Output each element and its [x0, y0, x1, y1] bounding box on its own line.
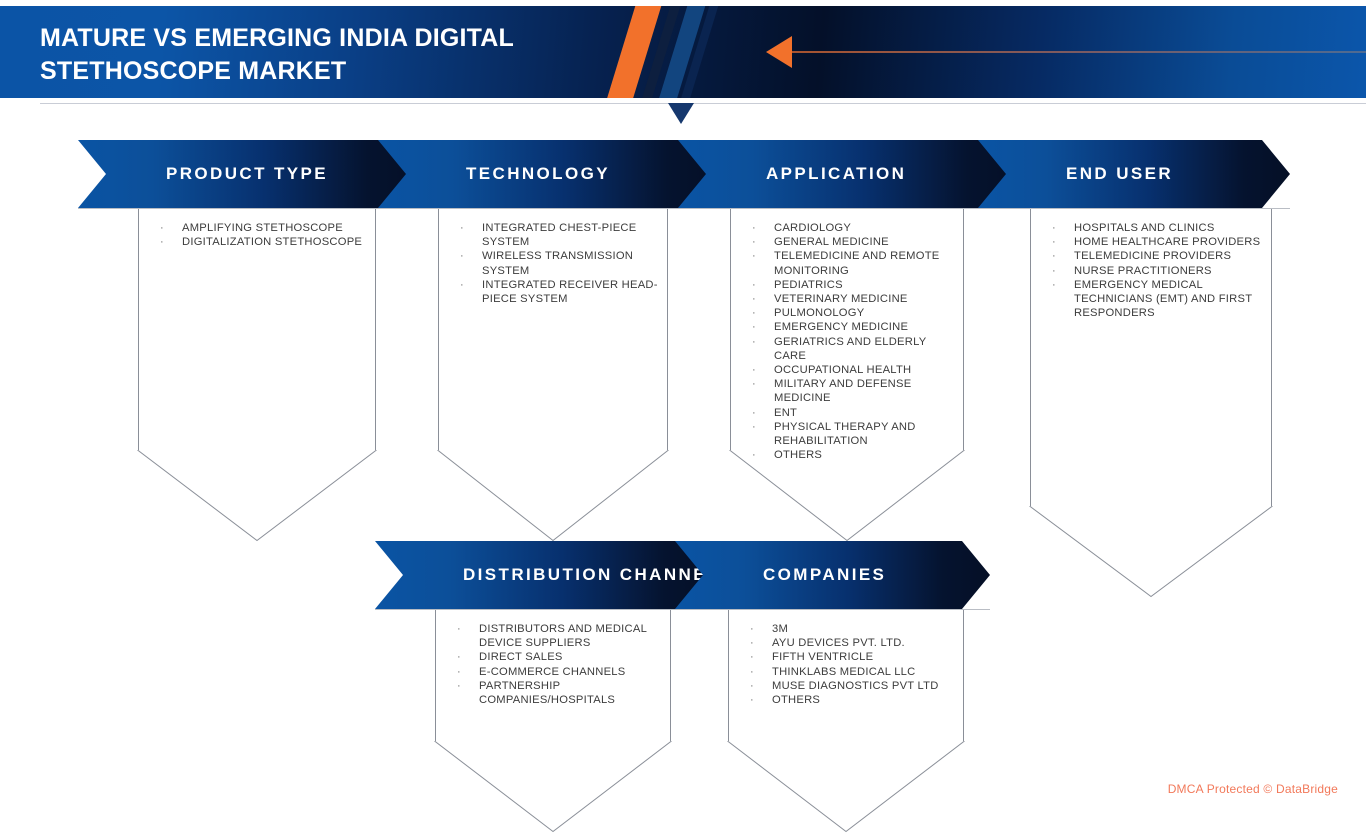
card-point-bottom [434, 741, 672, 833]
list-item-label: DISTRIBUTORS AND MEDICAL DEVICE SUPPLIER… [479, 622, 661, 650]
segment-list: ·CARDIOLOGY ·GENERAL MEDICINE ·TELEMEDIC… [752, 221, 954, 462]
page-title-line-2: STETHOSCOPE MARKET [40, 55, 660, 88]
segment-banner-distribution-channel[interactable]: DISTRIBUTION CHANNEL [375, 541, 715, 609]
bullet-icon: · [752, 292, 774, 306]
list-item-label: 3M [772, 622, 954, 636]
list-item: ·AYU DEVICES PVT. LTD. [750, 636, 954, 650]
list-item-label: INTEGRATED CHEST-PIECE SYSTEM [482, 221, 658, 249]
list-item-label: PULMONOLOGY [774, 306, 954, 320]
list-item: ·DIGITALIZATION STETHOSCOPE [160, 235, 366, 249]
bullet-icon: · [752, 420, 774, 434]
page-title-line-1: MATURE VS EMERGING INDIA DIGITAL [40, 22, 660, 55]
list-item: ·ENT [752, 406, 954, 420]
bullet-icon: · [460, 278, 482, 292]
list-item-label: MUSE DIAGNOSTICS PVT LTD [772, 679, 954, 693]
list-item-label: OTHERS [772, 693, 954, 707]
bullet-icon: · [750, 650, 772, 664]
segment-list: ·AMPLIFYING STETHOSCOPE ·DIGITALIZATION … [160, 221, 366, 249]
segment-title: APPLICATION [766, 164, 906, 184]
list-item: ·DIRECT SALES [457, 650, 661, 664]
list-item-label: GENERAL MEDICINE [774, 235, 954, 249]
segment-card-technology: ·INTEGRATED CHEST-PIECE SYSTEM ·WIRELESS… [438, 209, 668, 451]
list-item-label: DIRECT SALES [479, 650, 661, 664]
segment-card-product-type: ·AMPLIFYING STETHOSCOPE ·DIGITALIZATION … [138, 209, 376, 451]
list-item: ·INTEGRATED RECEIVER HEAD-PIECE SYSTEM [460, 278, 658, 306]
segment-card-application: ·CARDIOLOGY ·GENERAL MEDICINE ·TELEMEDIC… [730, 209, 964, 451]
list-item-label: OCCUPATIONAL HEALTH [774, 363, 954, 377]
segment-title: COMPANIES [763, 565, 886, 585]
list-item-label: INTEGRATED RECEIVER HEAD-PIECE SYSTEM [482, 278, 658, 306]
segment-banner-application[interactable]: APPLICATION [678, 140, 1018, 208]
header-rule-line [790, 51, 1366, 53]
list-item: ·PEDIATRICS [752, 278, 954, 292]
list-item: ·WIRELESS TRANSMISSION SYSTEM [460, 249, 658, 277]
list-item: ·VETERINARY MEDICINE [752, 292, 954, 306]
list-item: ·OTHERS [752, 448, 954, 462]
list-item-label: TELEMEDICINE PROVIDERS [1074, 249, 1262, 263]
card-point-bottom [137, 450, 377, 542]
list-item: ·HOME HEALTHCARE PROVIDERS [1052, 235, 1262, 249]
dmca-notice: DMCA Protected © DataBridge [1168, 782, 1338, 796]
bullet-icon: · [752, 306, 774, 320]
list-item: ·PHYSICAL THERAPY AND REHABILITATION [752, 420, 954, 448]
bullet-icon: · [752, 320, 774, 334]
list-item: ·HOSPITALS AND CLINICS [1052, 221, 1262, 235]
list-item: ·DISTRIBUTORS AND MEDICAL DEVICE SUPPLIE… [457, 622, 661, 650]
list-item-label: EMERGENCY MEDICINE [774, 320, 954, 334]
bullet-icon: · [457, 679, 479, 693]
list-item-label: CARDIOLOGY [774, 221, 954, 235]
bullet-icon: · [1052, 221, 1074, 235]
segment-list: ·DISTRIBUTORS AND MEDICAL DEVICE SUPPLIE… [457, 622, 661, 707]
bullet-icon: · [457, 650, 479, 664]
segment-title: DISTRIBUTION CHANNEL [463, 565, 720, 585]
segment-card-end-user: ·HOSPITALS AND CLINICS ·HOME HEALTHCARE … [1030, 209, 1272, 507]
list-item-label: AYU DEVICES PVT. LTD. [772, 636, 954, 650]
segment-banner-end-user[interactable]: END USER [978, 140, 1290, 208]
list-item-label: EMERGENCY MEDICAL TECHNICIANS (EMT) AND … [1074, 278, 1262, 321]
list-item: ·EMERGENCY MEDICAL TECHNICIANS (EMT) AND… [1052, 278, 1262, 321]
card-point-bottom [729, 450, 965, 542]
bullet-icon: · [1052, 249, 1074, 263]
card-point-bottom [727, 741, 965, 833]
list-item: ·FIFTH VENTRICLE [750, 650, 954, 664]
bullet-icon: · [752, 377, 774, 391]
list-item-label: WIRELESS TRANSMISSION SYSTEM [482, 249, 658, 277]
bullet-icon: · [750, 622, 772, 636]
list-item: ·PARTNERSHIP COMPANIES/HOSPITALS [457, 679, 661, 707]
list-item-label: FIFTH VENTRICLE [772, 650, 954, 664]
bullet-icon: · [1052, 264, 1074, 278]
bullet-icon: · [752, 221, 774, 235]
segment-card-distribution-channel: ·DISTRIBUTORS AND MEDICAL DEVICE SUPPLIE… [435, 610, 671, 742]
bullet-icon: · [752, 363, 774, 377]
list-item-label: AMPLIFYING STETHOSCOPE [182, 221, 366, 235]
list-item-label: PARTNERSHIP COMPANIES/HOSPITALS [479, 679, 661, 707]
bullet-icon: · [460, 249, 482, 263]
list-item-label: E-COMMERCE CHANNELS [479, 665, 661, 679]
list-item: ·GERIATRICS AND ELDERLY CARE [752, 335, 954, 363]
list-item: ·3M [750, 622, 954, 636]
bullet-icon: · [460, 221, 482, 235]
page-title: MATURE VS EMERGING INDIA DIGITAL STETHOS… [40, 22, 660, 88]
segment-list: ·HOSPITALS AND CLINICS ·HOME HEALTHCARE … [1052, 221, 1262, 320]
list-item: ·E-COMMERCE CHANNELS [457, 665, 661, 679]
list-item: ·INTEGRATED CHEST-PIECE SYSTEM [460, 221, 658, 249]
bullet-icon: · [750, 636, 772, 650]
list-item-label: PEDIATRICS [774, 278, 954, 292]
bullet-icon: · [457, 622, 479, 636]
segment-title: TECHNOLOGY [466, 164, 610, 184]
infographic-canvas: MATURE VS EMERGING INDIA DIGITAL STETHOS… [0, 0, 1366, 808]
down-triangle-icon [668, 103, 694, 124]
list-item-label: DIGITALIZATION STETHOSCOPE [182, 235, 366, 249]
list-item: ·CARDIOLOGY [752, 221, 954, 235]
list-item: ·OCCUPATIONAL HEALTH [752, 363, 954, 377]
list-item: ·AMPLIFYING STETHOSCOPE [160, 221, 366, 235]
header-divider [40, 103, 1366, 104]
segment-banner-technology[interactable]: TECHNOLOGY [378, 140, 718, 208]
segment-banner-companies[interactable]: COMPANIES [675, 541, 990, 609]
list-item: ·GENERAL MEDICINE [752, 235, 954, 249]
bullet-icon: · [752, 406, 774, 420]
bullet-icon: · [750, 665, 772, 679]
header-banner: MATURE VS EMERGING INDIA DIGITAL STETHOS… [0, 6, 1366, 98]
bullet-icon: · [160, 235, 182, 249]
bullet-icon: · [750, 679, 772, 693]
list-item-label: MILITARY AND DEFENSE MEDICINE [774, 377, 954, 405]
list-item: ·TELEMEDICINE PROVIDERS [1052, 249, 1262, 263]
left-arrow-icon [766, 36, 792, 68]
list-item-label: THINKLABS MEDICAL LLC [772, 665, 954, 679]
bullet-icon: · [752, 448, 774, 462]
list-item: ·PULMONOLOGY [752, 306, 954, 320]
card-point-bottom [437, 450, 669, 542]
card-point-bottom [1029, 506, 1273, 598]
bullet-icon: · [752, 249, 774, 263]
list-item: ·THINKLABS MEDICAL LLC [750, 665, 954, 679]
bullet-icon: · [1052, 278, 1074, 292]
list-item: ·EMERGENCY MEDICINE [752, 320, 954, 334]
list-item-label: HOME HEALTHCARE PROVIDERS [1074, 235, 1262, 249]
bullet-icon: · [457, 665, 479, 679]
list-item-label: ENT [774, 406, 954, 420]
list-item: ·MUSE DIAGNOSTICS PVT LTD [750, 679, 954, 693]
bullet-icon: · [750, 693, 772, 707]
list-item: ·OTHERS [750, 693, 954, 707]
segment-title: END USER [1066, 164, 1173, 184]
list-item-label: HOSPITALS AND CLINICS [1074, 221, 1262, 235]
segment-list: ·3M ·AYU DEVICES PVT. LTD. ·FIFTH VENTRI… [750, 622, 954, 707]
list-item: ·MILITARY AND DEFENSE MEDICINE [752, 377, 954, 405]
segment-banner-product-type[interactable]: PRODUCT TYPE [78, 140, 418, 208]
bullet-icon: · [1052, 235, 1074, 249]
bullet-icon: · [752, 278, 774, 292]
list-item-label: PHYSICAL THERAPY AND REHABILITATION [774, 420, 954, 448]
segment-card-companies: ·3M ·AYU DEVICES PVT. LTD. ·FIFTH VENTRI… [728, 610, 964, 742]
list-item-label: GERIATRICS AND ELDERLY CARE [774, 335, 954, 363]
list-item-label: NURSE PRACTITIONERS [1074, 264, 1262, 278]
segment-list: ·INTEGRATED CHEST-PIECE SYSTEM ·WIRELESS… [460, 221, 658, 306]
bullet-icon: · [752, 235, 774, 249]
list-item-label: OTHERS [774, 448, 954, 462]
list-item-label: VETERINARY MEDICINE [774, 292, 954, 306]
list-item-label: TELEMEDICINE AND REMOTE MONITORING [774, 249, 954, 277]
segment-title: PRODUCT TYPE [166, 164, 328, 184]
bullet-icon: · [752, 335, 774, 349]
bullet-icon: · [160, 221, 182, 235]
list-item: ·NURSE PRACTITIONERS [1052, 264, 1262, 278]
list-item: ·TELEMEDICINE AND REMOTE MONITORING [752, 249, 954, 277]
